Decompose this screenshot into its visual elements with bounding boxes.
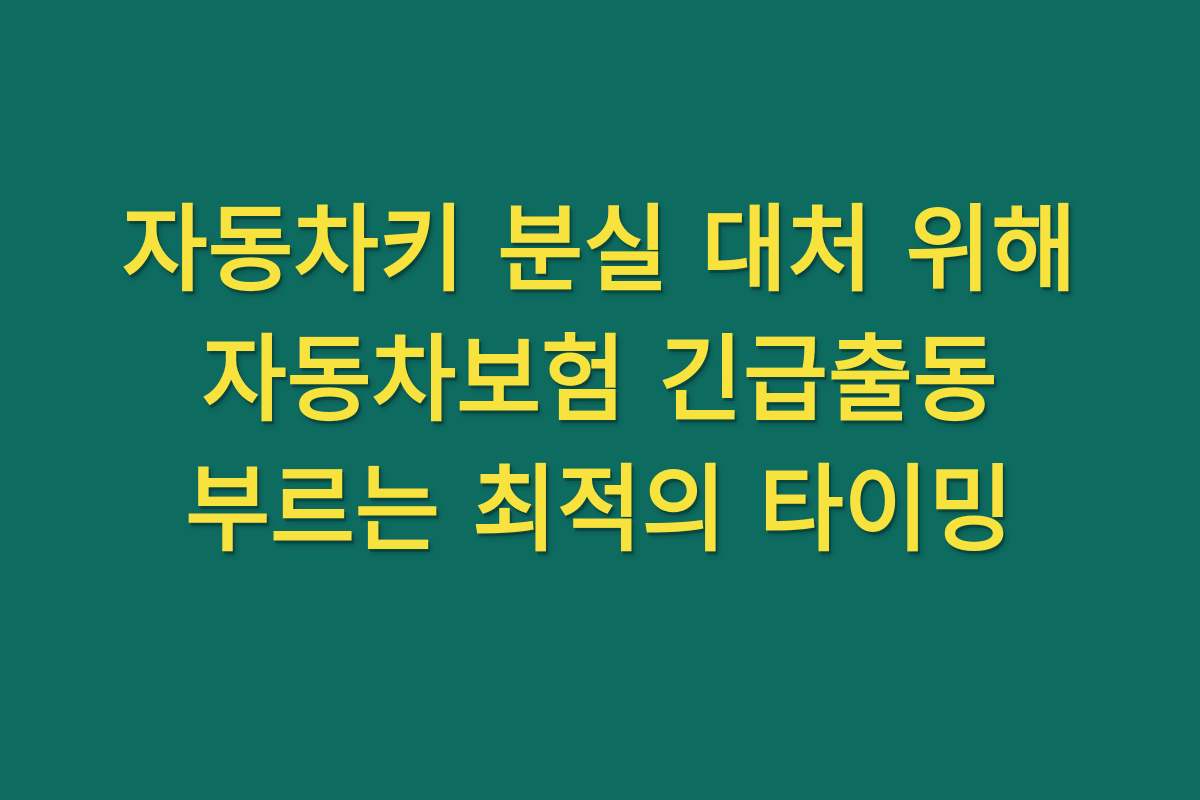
headline-block: 자동차키 분실 대처 위해 자동차보험 긴급출동 부르는 최적의 타이밍: [0, 186, 1200, 575]
headline-line-3: 부르는 최적의 타이밍: [186, 446, 1014, 576]
headline-line-2: 자동차보험 긴급출동: [202, 316, 998, 446]
banner-canvas: 자동차키 분실 대처 위해 자동차보험 긴급출동 부르는 최적의 타이밍: [0, 0, 1200, 800]
headline-line-1: 자동차키 분실 대처 위해: [123, 186, 1078, 316]
